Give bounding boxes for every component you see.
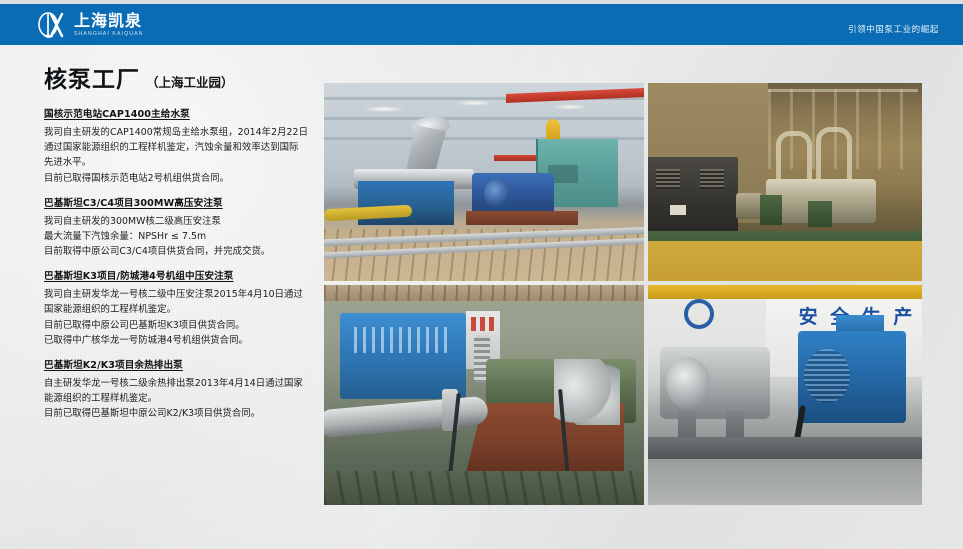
pipe-loop	[816, 127, 852, 180]
company-logo[interactable]: 上海凯泉 SHANGHAI KAIQUAN	[36, 10, 144, 40]
section-line: 我司自主研发华龙一号核二级中压安注泵2015年4月10日通过	[44, 287, 312, 302]
section-body: 我司自主研发的CAP1400常规岛主给水泵组，2014年2月22日 通过国家能源…	[44, 125, 312, 186]
section-heading: 巴基斯坦K3项目/防城港4号机组中压安注泵	[44, 270, 312, 285]
section-line: 国家能源组织的工程样机鉴定。	[44, 302, 312, 317]
section-line: 目前取得中原公司C3/C4项目供货合同，并完成交货。	[44, 244, 312, 259]
section-heading: 巴基斯坦C3/C4项目300MW高压安注泵	[44, 197, 312, 212]
section-line: 通过国家能源组织的工程样机鉴定，汽蚀余量和效率达到国际	[44, 140, 312, 155]
page-header-bar: 上海凯泉 SHANGHAI KAIQUAN 引领中国泵工业的崛起	[0, 4, 963, 45]
section-line: 我司自主研发的CAP1400常规岛主给水泵组，2014年2月22日	[44, 125, 312, 140]
blue-motor	[798, 331, 906, 423]
ground-surface	[324, 471, 644, 505]
section-body: 我司自主研发华龙一号核二级中压安注泵2015年4月10日通过 国家能源组织的工程…	[44, 287, 312, 348]
header-tagline: 引领中国泵工业的崛起	[848, 8, 939, 49]
green-pedestal	[760, 195, 782, 225]
blue-motor-green-pump-photo	[324, 285, 644, 505]
steel-pump-barrel	[660, 347, 770, 419]
indoor-pump-hall-photo	[648, 83, 922, 281]
kq-monogram-icon	[36, 11, 68, 40]
section-body: 我司自主研发的300MW核二级高压安注泵 最大流量下汽蚀余量：NPSHr ≤ 7…	[44, 214, 312, 260]
logo-wordmark: 上海凯泉 SHANGHAI KAIQUAN	[74, 13, 144, 37]
outdoor-test-bed-photo: 安 全 生 产	[648, 285, 922, 505]
red-skid	[466, 211, 578, 225]
section-line: 最大流量下汽蚀余量：NPSHr ≤ 7.5m	[44, 229, 312, 244]
section-heading: 国核示范电站CAP1400主给水泵	[44, 108, 312, 123]
slide-canvas: 上海凯泉 SHANGHAI KAIQUAN 引领中国泵工业的崛起 核泵工厂 （上…	[0, 0, 963, 549]
yellow-overhead-beam	[648, 285, 922, 299]
logo-english-name: SHANGHAI KAIQUAN	[74, 32, 144, 37]
crane-hook	[546, 119, 560, 141]
section-block-3: 巴基斯坦K3项目/防城港4号机组中压安注泵 我司自主研发华龙一号核二级中压安注泵…	[44, 270, 312, 348]
section-block-4: 巴基斯坦K2/K3项目余热排出泵 自主研发华龙一号核二级余热排出泵2013年4月…	[44, 359, 312, 422]
steel-bedplate	[648, 437, 922, 461]
wood-background	[324, 285, 644, 301]
photo-grid: 安 全 生 产	[324, 83, 922, 505]
pipe-loop	[776, 131, 812, 184]
yellow-floor	[648, 241, 922, 281]
coupling-guard	[736, 193, 762, 219]
section-line: 目前已取得国核示范电站2号机组供货合同。	[44, 171, 312, 186]
section-line: 目前已取得中原公司巴基斯坦K3项目供货合同。	[44, 318, 312, 333]
nameplate	[670, 205, 686, 215]
blue-motor	[340, 313, 466, 399]
page-title-sub: （上海工业园）	[146, 72, 234, 91]
section-heading: 巴基斯坦K2/K3项目余热排出泵	[44, 359, 312, 374]
page-title: 核泵工厂 （上海工业园）	[44, 60, 312, 94]
section-line: 我司自主研发的300MW核二级高压安注泵	[44, 214, 312, 229]
logo-chinese-name: 上海凯泉	[74, 13, 144, 29]
overhead-crane-beam	[506, 88, 644, 103]
factory-hall-feedwater-pump-photo	[324, 83, 644, 281]
valve-handwheel	[684, 299, 714, 329]
content-text-column: 核泵工厂 （上海工业园） 国核示范电站CAP1400主给水泵 我司自主研发的CA…	[44, 60, 312, 433]
page-title-main: 核泵工厂	[44, 60, 140, 94]
motor-vent	[700, 169, 724, 189]
section-body: 自主研发华龙一号核二级余热排出泵2013年4月14日通过国家 能源组织的工程样机…	[44, 376, 312, 422]
green-pedestal	[808, 201, 832, 227]
section-line: 自主研发华龙一号核二级余热排出泵2013年4月14日通过国家	[44, 376, 312, 391]
section-block-1: 国核示范电站CAP1400主给水泵 我司自主研发的CAP1400常规岛主给水泵组…	[44, 108, 312, 186]
steel-suction-pipe	[324, 396, 489, 439]
section-line: 能源组织的工程样机鉴定。	[44, 391, 312, 406]
ground-surface	[648, 459, 922, 505]
motor-vent	[656, 169, 680, 189]
section-line: 先进水平。	[44, 155, 312, 170]
section-block-2: 巴基斯坦C3/C4项目300MW高压安注泵 我司自主研发的300MW核二级高压安…	[44, 197, 312, 260]
section-line: 目前已取得巴基斯坦中原公司K2/K3项目供货合同。	[44, 406, 312, 421]
section-line: 已取得中广核华龙一号防城港4号机组供货合同。	[44, 333, 312, 348]
